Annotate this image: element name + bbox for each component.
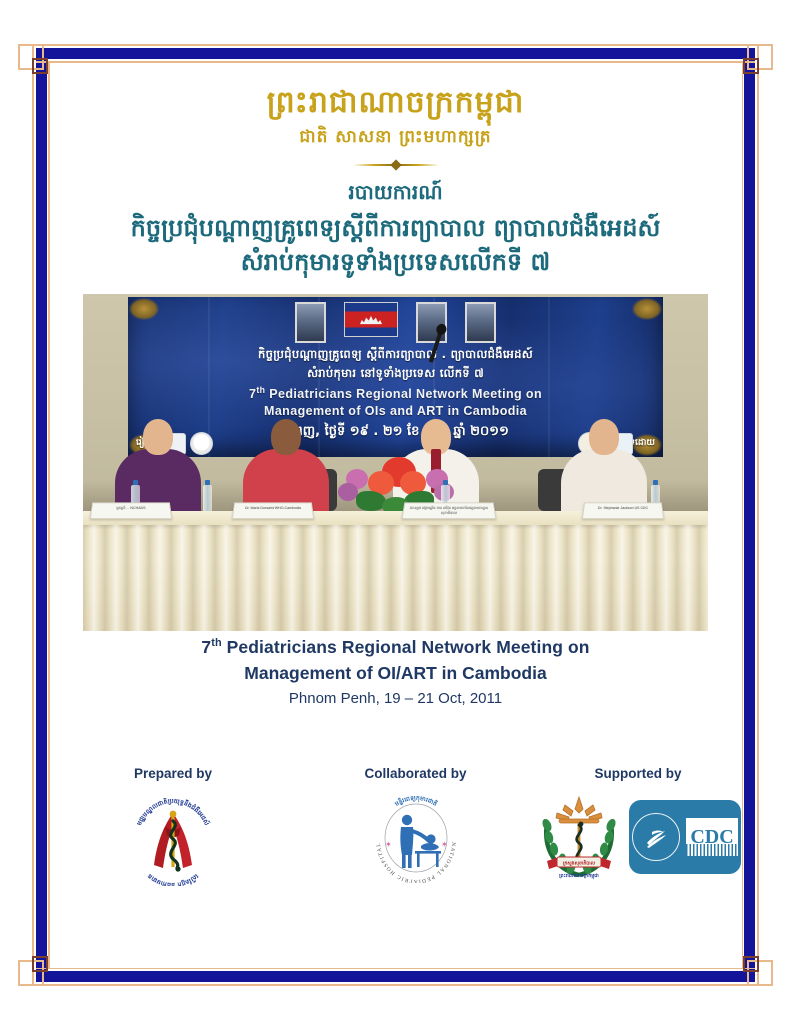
english-title-line-2: Management of OI/ART in Cambodia <box>48 663 743 684</box>
cover-content: ព្រះរាជាណាចក្រកម្ពុជា ជាតិ សាសនា ព្រះមហា… <box>48 66 743 964</box>
sponsor-logos-supported-by: ក្រសួងសុខាភិបាល ព្រះរាជាណាចក្រកម្ពុជា <box>533 791 743 883</box>
corner-ornament-inner-top-left <box>32 58 48 74</box>
ornamental-divider <box>353 161 439 169</box>
hhs-seal-icon <box>632 813 680 861</box>
portrait-photo-queen-mother <box>465 302 496 343</box>
english-title-line-1: 7th Pediatricians Regional Network Meeti… <box>48 637 743 658</box>
cdc-wordmark-box: CDC <box>686 818 738 856</box>
border-line-bottom-inner <box>36 968 755 970</box>
border-line-bottom-outer <box>32 984 759 986</box>
panelist-head <box>589 419 619 455</box>
ministry-of-health-logo-icon: ក្រសួងសុខាភិបាល ព្រះរាជាណាចក្រកម្ពុជា <box>535 791 623 883</box>
english-title-block: 7th Pediatricians Regional Network Meeti… <box>48 637 743 707</box>
cdc-wordmark-text: CDC <box>690 826 733 849</box>
sponsor-logos-prepared-by: មជ្ឈមណ្ឌលជាតិប្រយុទ្ធនឹងជំងឺអេដស៍ សើស្បែ… <box>48 791 298 886</box>
sponsor-section: Prepared by មជ្ឈមណ្ឌលជាតិប្រយុទ្ធនឹងជំងឺ… <box>48 766 743 886</box>
sponsor-group-prepared-by: Prepared by មជ្ឈមណ្ឌលជាតិប្រយុទ្ធនឹងជំងឺ… <box>48 766 298 886</box>
cambodia-flag-icon <box>344 302 398 337</box>
head-table <box>83 511 708 631</box>
nameplate-3: ឯកឧត្តម វេជ្ជបណ្ឌិត មាន ឈីវុន អគ្គនាយកនៃ… <box>402 502 497 519</box>
panelist-hair <box>266 413 306 453</box>
angkor-wat-glyph <box>360 315 382 324</box>
corner-ornament-inner-bottom-right <box>743 956 759 972</box>
nameplate-2: Dr. Maria Dorsaint WHO-Cambodia <box>232 502 314 519</box>
sponsor-label-collaborated-by: Collaborated by <box>298 766 533 781</box>
svg-text:✶: ✶ <box>441 840 448 849</box>
sponsor-group-collaborated-by: Collaborated by មន្ទីរពេទ្យកុមារជាតិ <box>298 766 533 883</box>
svg-text:✶: ✶ <box>385 840 392 849</box>
panelist-head <box>271 419 301 455</box>
panelist-1 <box>115 419 201 513</box>
border-band-right <box>744 48 755 982</box>
banner-portraits-row <box>128 302 663 342</box>
sponsor-row: Prepared by មជ្ឈមណ្ឌលជាតិប្រយុទ្ធនឹងជំងឺ… <box>48 766 743 886</box>
panelist-hair <box>584 413 624 453</box>
panelist-hair <box>138 413 178 453</box>
flower-leaf <box>356 491 386 511</box>
english-ordinal-number: 7 <box>201 637 211 657</box>
banner-khmer-line-1: កិច្ចប្រជុំបណ្ដាញគ្រូពេទ្យ ស្ដីពីការព្យា… <box>128 347 663 364</box>
nameplate-4: Dr. Stephanie Jackson US CDC <box>582 502 664 519</box>
sponsor-logos-collaborated-by: មន្ទីរពេទ្យកុមារជាតិ NATIONAL PEDIATRIC … <box>298 791 533 883</box>
sponsor-label-prepared-by: Prepared by <box>48 766 298 781</box>
us-cdc-logo: CDC <box>629 800 741 874</box>
nameplate-text: ឯកឧត្តម វេជ្ជបណ្ឌិត មាន ឈីវុន អគ្គនាយកនៃ… <box>403 503 495 516</box>
sponsor-label-supported-by: Supported by <box>533 766 743 781</box>
national-motto-heading: ជាតិ សាសនា ព្រះមហាក្សត្រ <box>48 126 743 151</box>
nameplate-text: Dr. Maria Dorsaint WHO-Cambodia <box>234 503 312 511</box>
water-bottle <box>203 485 212 513</box>
english-ordinal-suffix: th <box>211 637 221 649</box>
kingdom-of-cambodia-heading: ព្រះរាជាណាចក្រកម្ពុជា <box>48 84 743 122</box>
national-pediatric-hospital-logo-icon: មន្ទីរពេទ្យកុមារជាតិ NATIONAL PEDIATRIC … <box>367 791 465 883</box>
khmer-title-block: កិច្ចប្រជុំបណ្ដាញគ្រូពេទ្យស្ដីពីការព្យាប… <box>48 211 743 281</box>
khmer-title-line-2: សំរាប់កុមារទូទាំងប្រទេសលើកទី ៧ <box>48 245 743 280</box>
banner-english-line-1: 7th Pediatricians Regional Network Meeti… <box>128 385 663 401</box>
banner-english-line-2: Management of OIs and ART in Cambodia <box>128 404 663 418</box>
banner-khmer-line-2: សំរាប់កុមារ នៅទូទាំងប្រទេស លើកទី ៧ <box>128 366 663 383</box>
svg-text:ក្រសួងសុខាភិបាល: ក្រសួងសុខាភិបាល <box>563 860 596 867</box>
border-band-bottom <box>36 971 755 982</box>
portrait-photo-prime-minister <box>295 302 326 343</box>
divider-diamond <box>390 159 401 170</box>
nameplate-text: អ្នកស្រី ... NCHADS <box>92 503 170 511</box>
panelist-4 <box>561 419 647 513</box>
banner-english-line-1-rest: Pediatricians Regional Network Meeting o… <box>265 387 542 401</box>
nameplate-text: Dr. Stephanie Jackson US CDC <box>584 503 662 511</box>
panelist-head <box>143 419 173 455</box>
border-line-top-inner <box>36 61 755 63</box>
nameplate-1: អ្នកស្រី ... NCHADS <box>90 502 172 519</box>
corner-ornament-inner-top-right <box>743 58 759 74</box>
report-label-heading: របាយការណ៍ <box>48 179 743 205</box>
portrait-photo-king-father <box>416 302 447 343</box>
border-line-top-outer <box>32 44 759 46</box>
conference-photo: កិច្ចប្រជុំបណ្ដាញគ្រូពេទ្យ ស្ដីពីការព្យា… <box>83 294 708 631</box>
english-title-location-date: Phnom Penh, 19 – 21 Oct, 2011 <box>48 690 743 707</box>
border-band-left <box>36 48 47 982</box>
nchads-logo-icon: មជ្ឈមណ្ឌលជាតិប្រយុទ្ធនឹងជំងឺអេដស៍ សើស្បែ… <box>123 791 223 886</box>
corner-ornament-inner-bottom-left <box>32 956 48 972</box>
khmer-title-line-1: កិច្ចប្រជុំបណ្ដាញគ្រូពេទ្យស្ដីពីការព្យាប… <box>131 214 661 242</box>
border-line-right-outer <box>757 44 759 986</box>
panelist-hair <box>416 413 456 453</box>
svg-text:ព្រះរាជាណាចក្រកម្ពុជា: ព្រះរាជាណាចក្រកម្ពុជា <box>559 873 599 880</box>
sponsor-group-supported-by: Supported by <box>533 766 743 883</box>
flower-petal <box>338 483 358 501</box>
border-line-left-outer <box>32 44 34 986</box>
border-band-top <box>36 48 755 59</box>
english-title-line-1-rest: Pediatricians Regional Network Meeting o… <box>222 637 590 657</box>
panelist-2 <box>243 419 329 513</box>
tablecloth-pleats <box>83 525 708 631</box>
